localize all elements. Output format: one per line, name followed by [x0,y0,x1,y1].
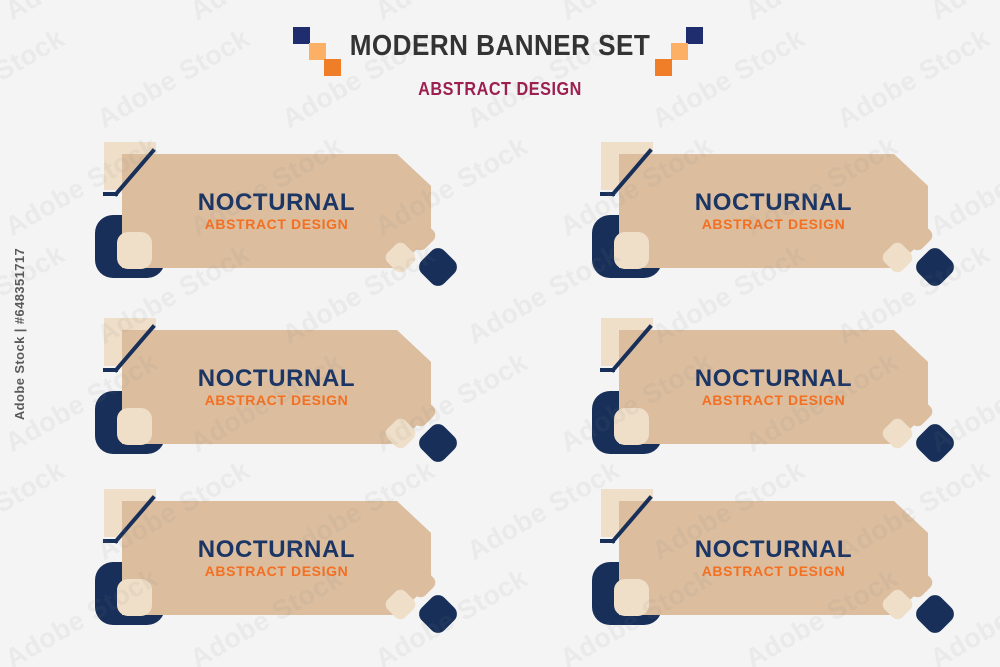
diamond-navy-icon [912,244,957,289]
banner-card[interactable]: NOCTURNAL ABSTRACT DESIGN [95,485,455,630]
diamond-navy-icon [415,591,460,636]
banner-body-shape [619,154,928,268]
corner-diagonal-stroke [601,318,663,374]
banner-body-shape [122,501,431,615]
inner-rounded-square [614,408,649,445]
corner-diagonal-stroke [601,142,663,198]
diamond-navy-icon [912,420,957,465]
banner-body-shape [619,501,928,615]
banner-body-shape [122,330,431,444]
banner-card[interactable]: NOCTURNAL ABSTRACT DESIGN [592,138,952,283]
banner-card[interactable]: NOCTURNAL ABSTRACT DESIGN [95,138,455,283]
diamond-navy-icon [415,244,460,289]
banner-card[interactable]: NOCTURNAL ABSTRACT DESIGN [95,314,455,459]
corner-diagonal-stroke [104,489,166,545]
inner-rounded-square [117,408,152,445]
corner-diagonal-stroke [104,142,166,198]
diamond-navy-icon [912,591,957,636]
diamond-navy-icon [415,420,460,465]
corner-diagonal-stroke [104,318,166,374]
page-subtitle: ABSTRACT DESIGN [50,79,950,100]
banner-card[interactable]: NOCTURNAL ABSTRACT DESIGN [592,314,952,459]
banner-body-shape [619,330,928,444]
banner-body-shape [122,154,431,268]
inner-rounded-square [117,579,152,616]
stock-id-watermark: Adobe Stock | #648351717 [12,247,27,419]
inner-rounded-square [117,232,152,269]
inner-rounded-square [614,232,649,269]
header: MODERN BANNER SET ABSTRACT DESIGN [0,30,1000,115]
banner-card[interactable]: NOCTURNAL ABSTRACT DESIGN [592,485,952,630]
inner-rounded-square [614,579,649,616]
corner-diagonal-stroke [601,489,663,545]
page-title: MODERN BANNER SET [50,30,950,63]
